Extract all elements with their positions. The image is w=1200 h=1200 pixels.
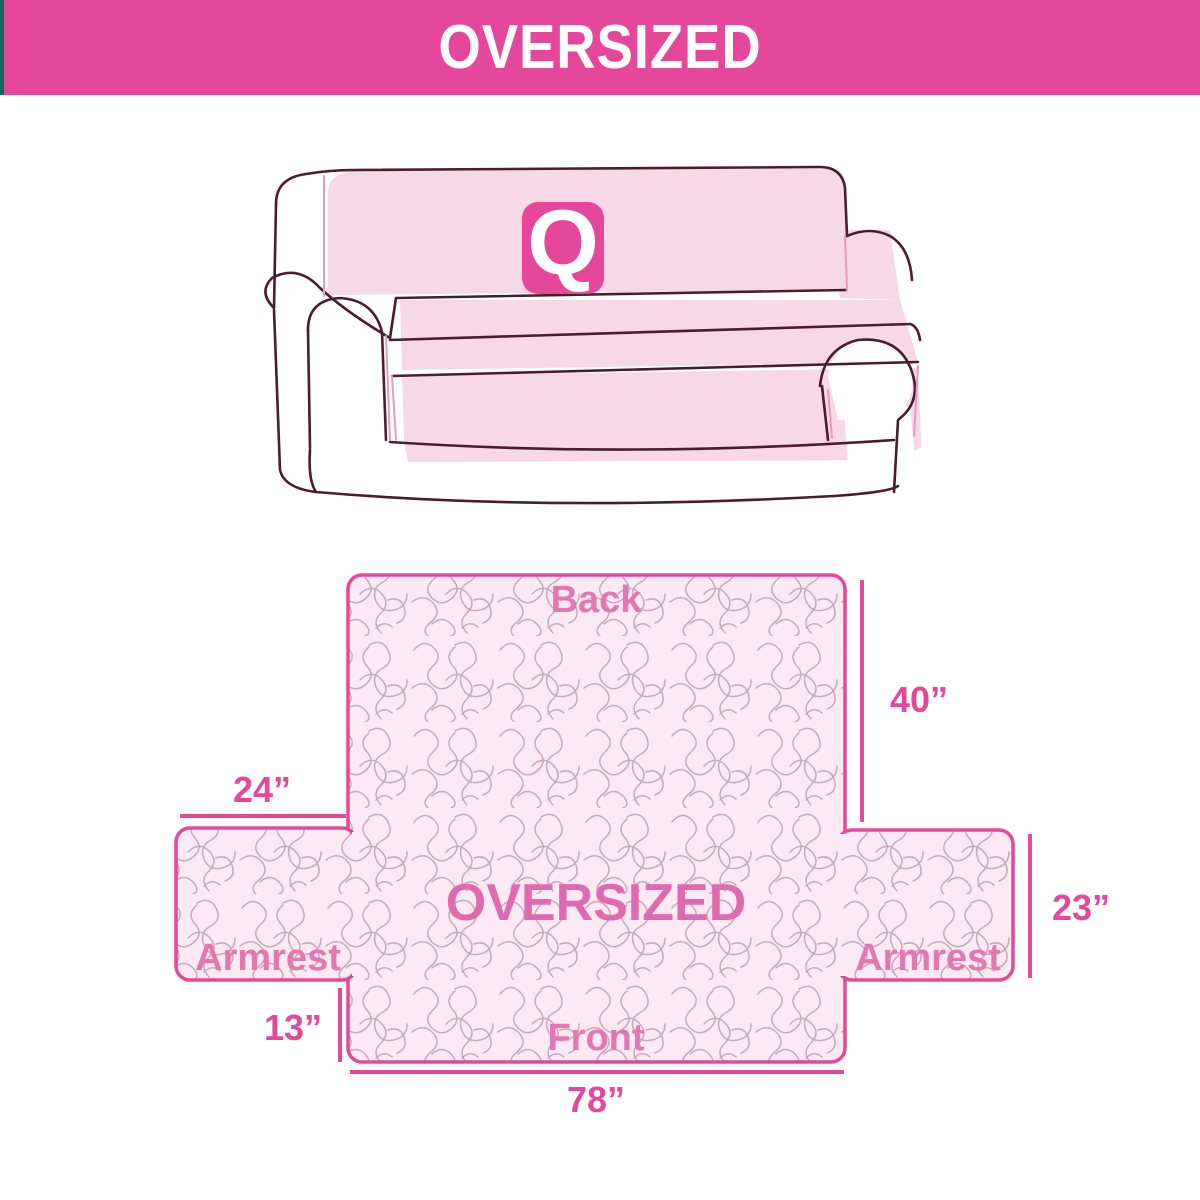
dimension-label-40: 40” [890, 679, 948, 720]
dimension-label-13: 13” [264, 1007, 322, 1048]
dimension-label-23: 23” [1052, 887, 1110, 928]
pattern-diagram: 24” 40” 23” 13” 78” Back Front Armrest A… [150, 550, 1160, 1150]
pattern-back-panel [348, 575, 845, 1062]
panel-label-armrest-left: Armrest [195, 937, 341, 979]
sofa-illustration: Q [250, 140, 980, 525]
q-logo-badge: Q [522, 192, 604, 294]
q-logo-letter: Q [527, 192, 599, 294]
panel-label-armrest-right: Armrest [855, 937, 1001, 979]
header-banner: OVERSIZED [0, 0, 1200, 95]
dimension-label-78: 78” [567, 1079, 625, 1120]
dimension-label-24: 24” [233, 769, 291, 810]
panel-label-back: Back [551, 579, 643, 621]
page-title: OVERSIZED [72, 0, 1128, 95]
header-accent-strip [0, 0, 4, 95]
pattern-center-label: OVERSIZED [446, 874, 747, 932]
panel-label-front: Front [547, 1017, 644, 1059]
